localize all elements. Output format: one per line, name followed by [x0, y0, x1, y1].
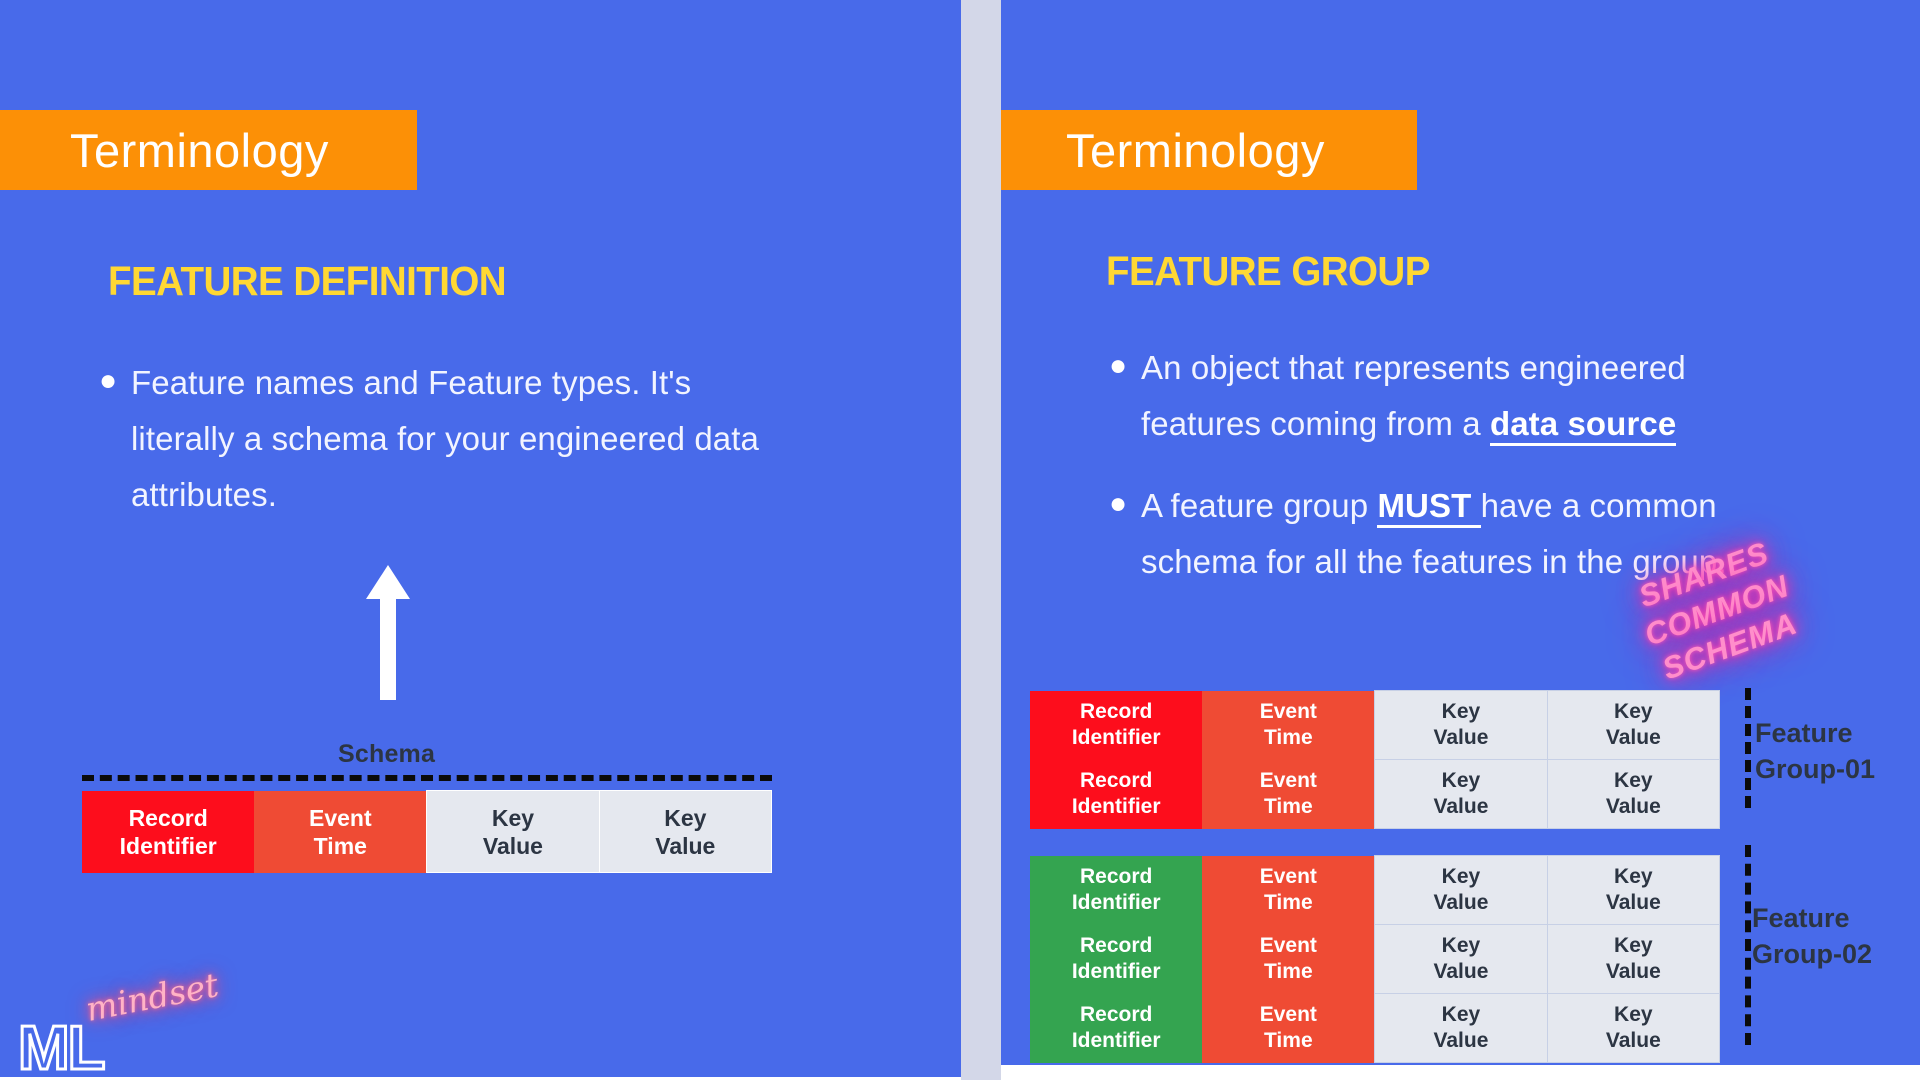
table-row: Record Identifier Event Time Key Value K…: [1030, 856, 1720, 925]
table-row: Record Identifier Event Time Key Value K…: [82, 791, 772, 873]
bullet-dot-icon: ●: [1105, 478, 1141, 530]
cell-event-time: Event Time: [254, 791, 426, 873]
left-schema-table: Record Identifier Event Time Key Value K…: [82, 790, 772, 873]
feature-group-02-bracket: [1745, 845, 1751, 1045]
table-row: Record Identifier Event Time Key Value K…: [1030, 925, 1720, 994]
cell-event-time: Event Time: [1202, 925, 1374, 994]
left-bullet-list: ● Feature names and Feature types. It's …: [95, 355, 795, 549]
cell-key-value: Key Value: [599, 791, 771, 873]
ml-mindset-logo: ML mindset: [10, 990, 230, 1080]
left-terminology-label: Terminology: [70, 127, 329, 174]
cell-key-value: Key Value: [1547, 994, 1719, 1063]
cell-key-value: Key Value: [1547, 925, 1719, 994]
schema-dashed-divider: [82, 775, 772, 781]
cell-key-value: Key Value: [1547, 760, 1719, 829]
left-bullet-text-1: Feature names and Feature types. It's li…: [131, 355, 795, 523]
cell-record-identifier: Record Identifier: [1030, 994, 1202, 1063]
feature-group-01-table: Record Identifier Event Time Key Value K…: [1030, 690, 1720, 829]
table-row: Record Identifier Event Time Key Value K…: [1030, 691, 1720, 760]
cell-event-time: Event Time: [1202, 691, 1374, 760]
feature-group-01-bracket: [1745, 688, 1751, 808]
table-row: Record Identifier Event Time Key Value K…: [1030, 994, 1720, 1063]
cell-key-value: Key Value: [1375, 994, 1547, 1063]
left-terminology-tag: Terminology: [0, 110, 417, 190]
right-terminology-label: Terminology: [1066, 127, 1325, 174]
bullet-2-part-plain-a: A feature group: [1141, 487, 1377, 524]
bullet-dot-icon: ●: [1105, 340, 1141, 392]
cell-key-value: Key Value: [427, 791, 599, 873]
right-bullet-text-1: An object that represents engineered fea…: [1141, 340, 1805, 452]
cell-event-time: Event Time: [1202, 760, 1374, 829]
cell-key-value: Key Value: [1547, 691, 1719, 760]
feature-group-02-label: Feature Group-02: [1752, 900, 1912, 972]
cell-event-time: Event Time: [1202, 994, 1374, 1063]
panel-divider: [961, 0, 1001, 1080]
slide-canvas: Terminology FEATURE DEFINITION ● Feature…: [0, 0, 1920, 1080]
list-item: ● An object that represents engineered f…: [1105, 340, 1805, 452]
bullet-dot-icon: ●: [95, 355, 131, 407]
right-terminology-tag: Terminology: [1001, 110, 1417, 190]
schema-caption: Schema: [338, 740, 435, 769]
list-item: ● Feature names and Feature types. It's …: [95, 355, 795, 523]
cell-key-value: Key Value: [1375, 760, 1547, 829]
feature-group-02-table: Record Identifier Event Time Key Value K…: [1030, 855, 1720, 1063]
right-section-heading: FEATURE GROUP: [1106, 248, 1430, 295]
cell-key-value: Key Value: [1375, 856, 1547, 925]
left-section-heading: FEATURE DEFINITION: [108, 258, 506, 305]
cell-key-value: Key Value: [1375, 691, 1547, 760]
cell-key-value: Key Value: [1375, 925, 1547, 994]
cell-event-time: Event Time: [1202, 856, 1374, 925]
cell-record-identifier: Record Identifier: [82, 791, 254, 873]
feature-group-01-label: Feature Group-01: [1755, 715, 1915, 787]
up-arrow-icon: [366, 565, 410, 700]
must-emphasis: MUST: [1377, 487, 1480, 528]
cell-record-identifier: Record Identifier: [1030, 760, 1202, 829]
cell-record-identifier: Record Identifier: [1030, 856, 1202, 925]
data-source-emphasis: data source: [1490, 405, 1676, 446]
table-row: Record Identifier Event Time Key Value K…: [1030, 760, 1720, 829]
cell-key-value: Key Value: [1547, 856, 1719, 925]
cell-record-identifier: Record Identifier: [1030, 925, 1202, 994]
cell-record-identifier: Record Identifier: [1030, 691, 1202, 760]
